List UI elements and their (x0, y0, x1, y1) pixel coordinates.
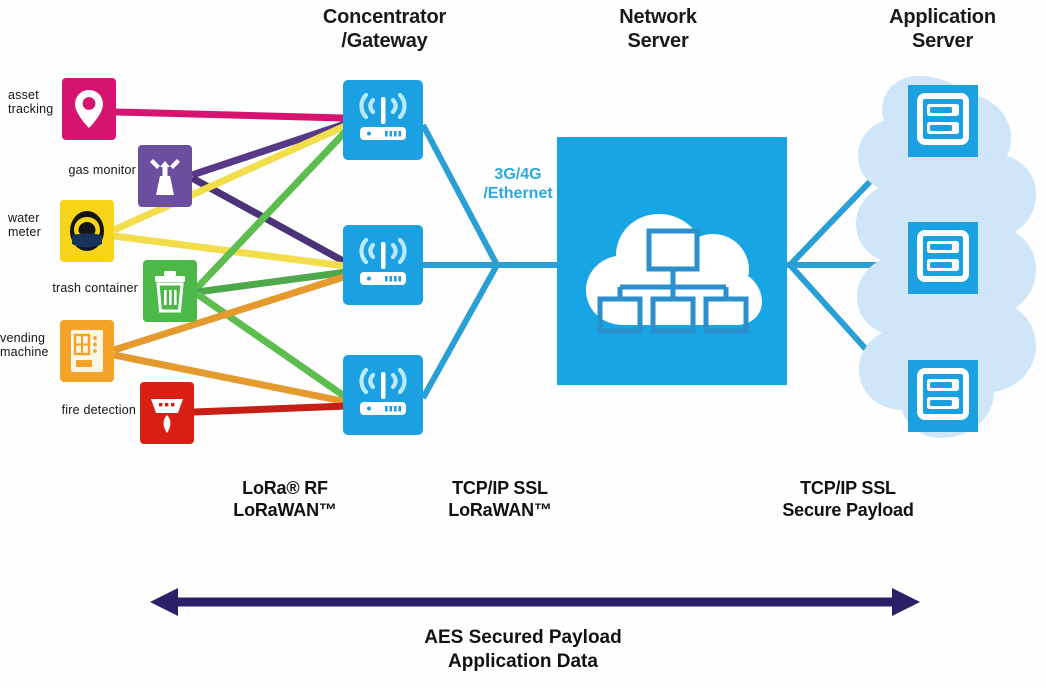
fire-detector-icon (147, 391, 187, 435)
gateway-2[interactable] (343, 225, 423, 305)
device-label-fire-detection: fire detection (32, 403, 136, 417)
wire-fire-detection (194, 406, 347, 412)
column-heading-application-server: Application Server (855, 6, 1030, 53)
wireless-router-icon (352, 364, 414, 427)
gateway-1[interactable] (343, 80, 423, 160)
device-fire-detection[interactable] (140, 382, 194, 444)
device-label-gas-monitor: gas monitor (44, 163, 136, 177)
wire-trash-container (197, 130, 347, 398)
device-label-asset-tracking: asset tracking (8, 88, 62, 117)
device-vending-machine[interactable] (60, 320, 114, 382)
application-server-3[interactable] (908, 360, 978, 432)
wire-gas-monitor (192, 124, 345, 262)
water-gauge-icon (67, 208, 107, 254)
protocol-label-tcpip-secure-payload: TCP/IP SSL Secure Payload (748, 478, 948, 522)
column-heading-network-server: Network Server (578, 6, 738, 53)
column-heading-concentrator-gateway: Concentrator /Gateway (302, 6, 467, 53)
device-label-trash-container: trash container (26, 281, 138, 295)
aes-span-caption: AES Secured Payload Application Data (0, 626, 1046, 674)
location-pin-icon (73, 88, 105, 130)
wireless-router-icon (352, 234, 414, 297)
trash-bin-icon (152, 269, 188, 313)
application-server-2[interactable] (908, 222, 978, 294)
gas-detector-icon (147, 154, 183, 198)
network-server-node[interactable] (557, 137, 787, 385)
server-rack-icon (917, 92, 969, 151)
device-gas-monitor[interactable] (138, 145, 192, 207)
lorawan-architecture-diagram: Concentrator /Gateway Network Server App… (0, 0, 1046, 688)
server-rack-icon (917, 229, 969, 288)
server-rack-icon (917, 367, 969, 426)
backhaul-link-label: 3G/4G /Ethernet (458, 165, 578, 203)
aes-span-arrow (150, 588, 920, 616)
gateway-3[interactable] (343, 355, 423, 435)
device-label-vending-machine: vending machine (0, 331, 56, 360)
wireless-router-icon (352, 89, 414, 152)
protocol-label-lora-rf: LoRa® RF LoRaWAN™ (185, 478, 385, 522)
cloud-network-icon (572, 159, 772, 364)
wire-asset-tracking (116, 112, 343, 118)
vending-machine-icon (69, 328, 105, 374)
device-asset-tracking[interactable] (62, 78, 116, 140)
device-label-water-meter: water meter (8, 211, 56, 240)
protocol-label-tcpip-lorawan: TCP/IP SSL LoRaWAN™ (400, 478, 600, 522)
application-server-1[interactable] (908, 85, 978, 157)
device-water-meter[interactable] (60, 200, 114, 262)
device-trash-container[interactable] (143, 260, 197, 322)
